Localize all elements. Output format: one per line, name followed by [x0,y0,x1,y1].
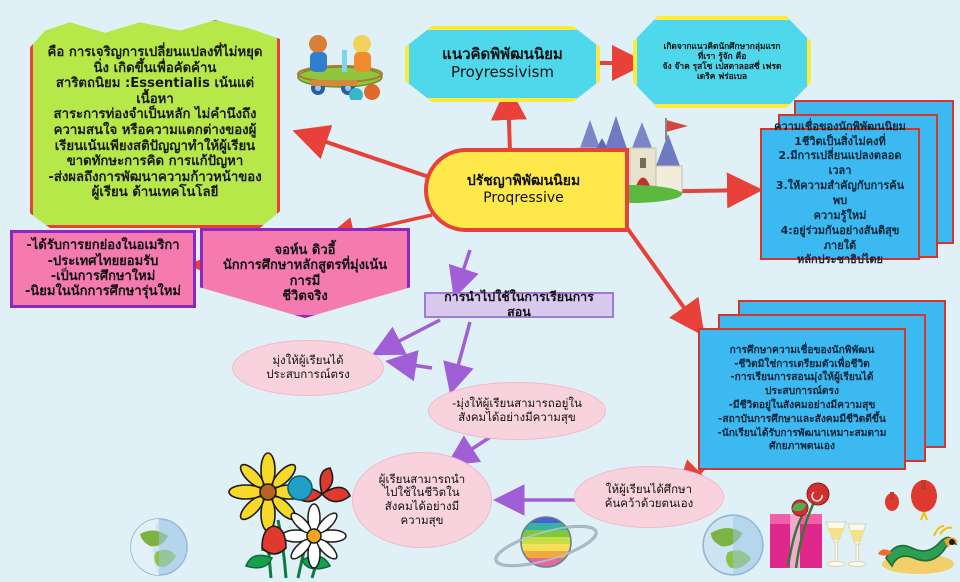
acceptance-pink-box[interactable]: -ได้รับการยกย่องในอเมริกา -ประเทศไทยยอมร… [10,230,196,308]
application-label-strip[interactable]: การนำไปใช้ในการเรียนการสอน [424,292,614,318]
beliefs-card-stack[interactable]: ความเชื่อของนักพิพัฒนนิยม 1ชีวิตเป็นสิ่ง… [760,100,956,260]
live-happily-text: -มุ่งให้ผู้เรียนสามารถอยู่ใน สังคมได้อย่… [452,397,582,424]
center-capsule-node[interactable]: ปรัชญาพิพัฒนนิยม Proqressive [424,148,629,232]
education-card-stack[interactable]: การศึกษาความเชื่อของนักพิพัฒน -ชีวิตมิใช… [698,300,948,470]
center-title-en: Proqressive [483,190,564,207]
planet-saturn-clipart [490,508,602,580]
edge-direct-from-right [392,362,432,368]
ellipse-live-happily[interactable]: -มุ่งให้ผู้เรียนสามารถอยู่ใน สังคมได้อย่… [428,382,606,440]
children-playing-clipart [288,22,392,100]
concept-title-th: แนวคิดพิพัฒนนิยม [442,46,563,64]
chinese-dragon-clipart [874,476,960,576]
application-text: การนำไปใช้ในการเรียนการสอน [436,290,602,320]
dewey-pink-box[interactable]: จอห์น ดิวอี้ นักการศึกษาหลักสูตรที่มุ่งเ… [200,228,410,318]
edge-center-to-education [620,218,700,330]
center-title-th: ปรัชญาพิพัฒนนิยม [467,173,580,190]
concept-title-en: Proyressivism [451,64,554,82]
definition-text: คือ การเจริญการเปลี่ยนแปลงที่ไม่หยุด นิ่… [45,45,265,201]
beliefs-card-front[interactable]: ความเชื่อของนักพิพัฒนนิยม 1ชีวิตเป็นสิ่ง… [760,128,920,260]
ellipse-apply-life[interactable]: ผู้เรียนสามารถนำ ไปใช้ในชีวิตใน สังคมได้… [352,452,492,548]
education-text: การศึกษาความเชื่อของนักพิพัฒน -ชีวิตมิใช… [718,344,887,454]
origin-octagon-node[interactable]: เกิดจากแนวคิดนักศึกษากลุ่มแรก ที่เรา รู้… [633,16,811,108]
ellipse-self-study[interactable]: ให้ผู้เรียนได้ศึกษา ค้นคว้าด้วยตนเอง [574,466,724,528]
acceptance-text: -ได้รับการยกย่องในอเมริกา -ประเทศไทยยอมร… [25,238,181,299]
edge-application-to-happy [452,322,470,388]
direct-experience-text: มุ่งให้ผู้เรียนได้ ประสบการณ์ตรง [266,354,350,381]
education-card-front[interactable]: การศึกษาความเชื่อของนักพิพัฒน -ชีวิตมิใช… [698,328,906,470]
edge-application-to-direct [378,320,440,352]
edge-center-to-application [456,250,470,292]
concept-octagon-node[interactable]: แนวคิดพิพัฒนนิยม Proyressivism [405,26,600,102]
edge-center-to-definition [300,133,432,178]
globe-left-clipart [128,516,190,578]
apply-life-text: ผู้เรียนสามารถนำ ไปใช้ในชีวิตใน สังคมได้… [379,473,465,527]
beliefs-text: ความเชื่อของนักพิพัฒนนิยม 1ชีวิตเป็นสิ่ง… [772,120,908,268]
globe-right-clipart [700,512,766,578]
dewey-text: จอห์น ดิวอี้ นักการศึกษาหลักสูตรที่มุ่งเ… [213,243,397,304]
mindmap-canvas: คือ การเจริญการเปลี่ยนแปลงที่ไม่หยุด นิ่… [0,0,960,582]
ellipse-direct-experience[interactable]: มุ่งให้ผู้เรียนได้ ประสบการณ์ตรง [232,340,384,396]
origin-text: เกิดจากแนวคิดนักศึกษากลุ่มแรก ที่เรา รู้… [663,42,782,82]
flowers-clipart [226,450,356,580]
roses-gift-champagne-clipart [766,478,874,582]
definition-green-banner[interactable]: คือ การเจริญการเปลี่ยนแปลงที่ไม่หยุด นิ่… [30,18,280,228]
self-study-text: ให้ผู้เรียนได้ศึกษา ค้นคว้าด้วยตนเอง [605,483,694,510]
